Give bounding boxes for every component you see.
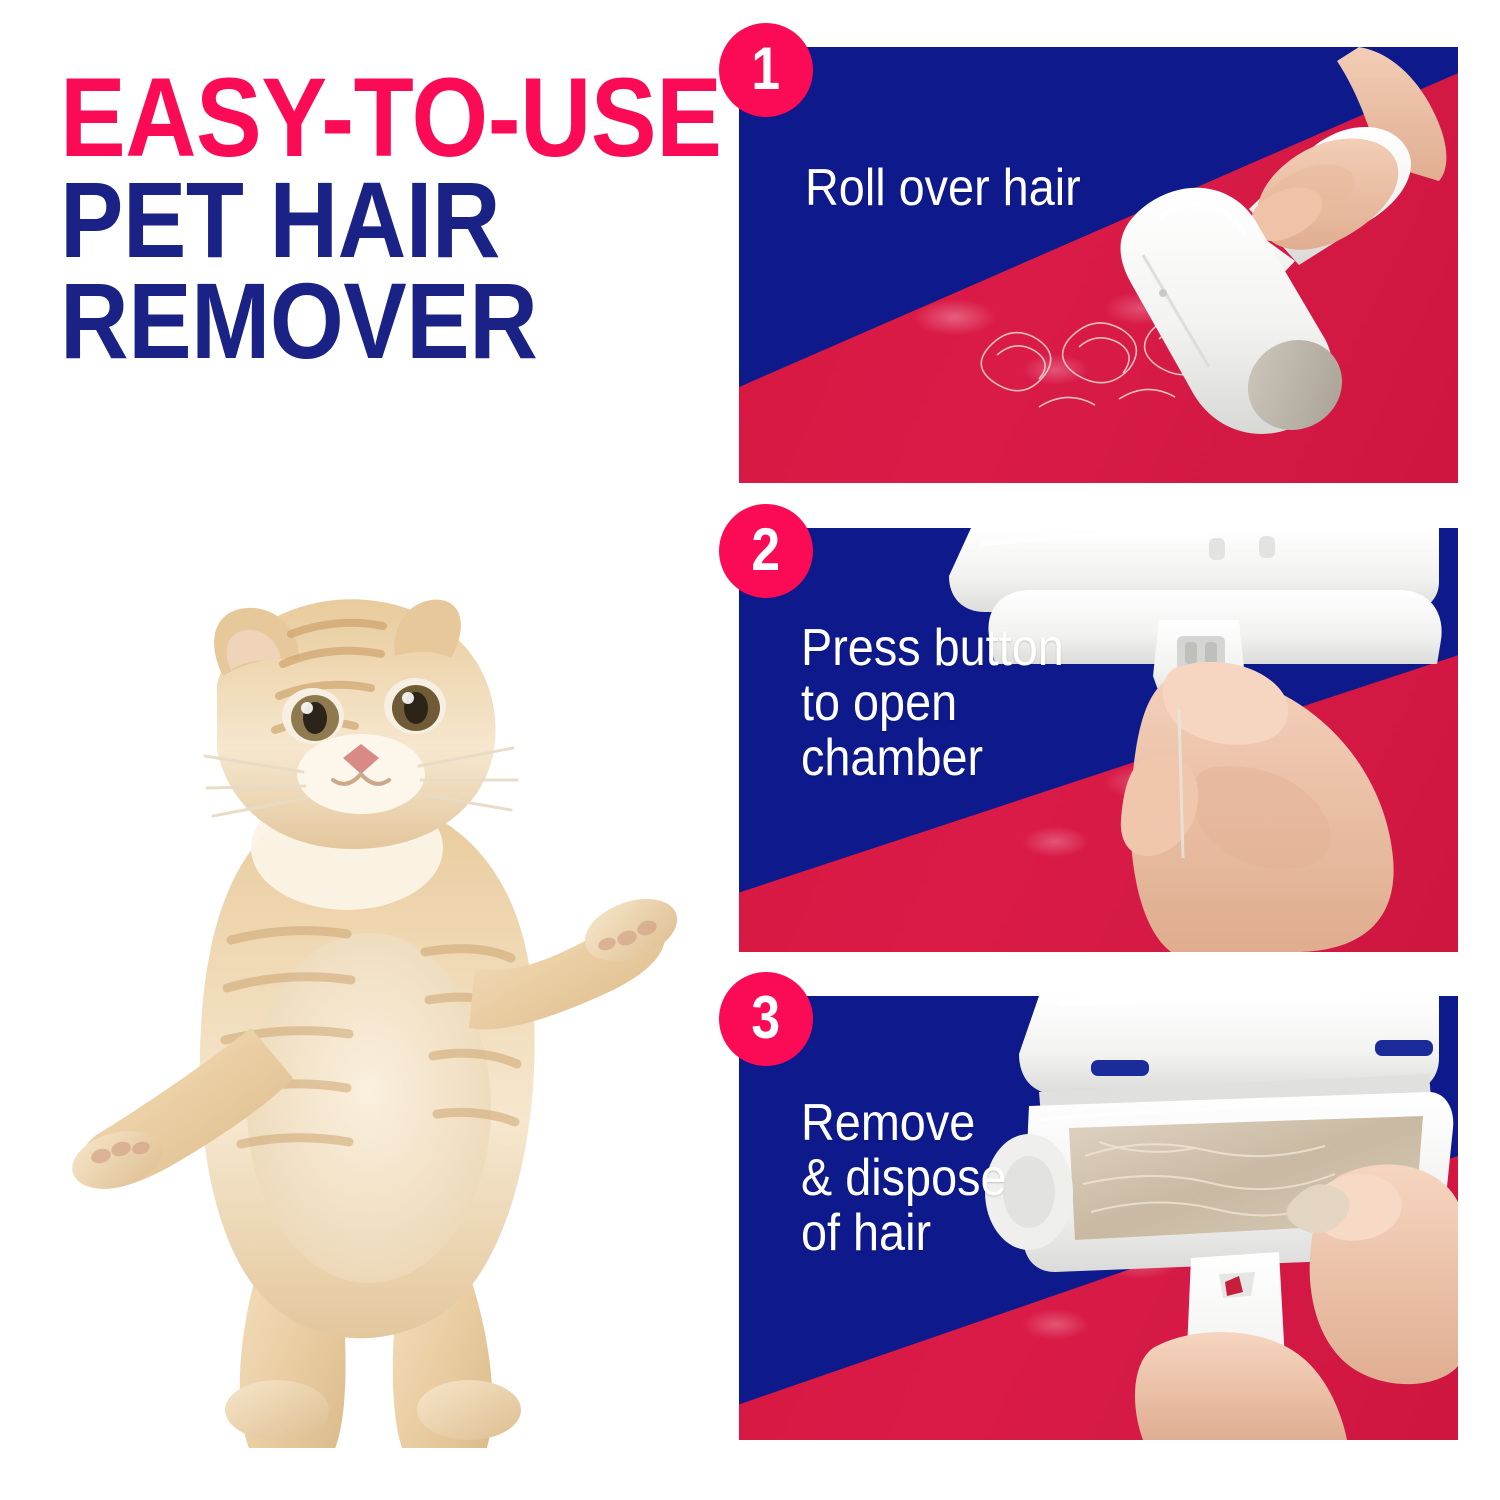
step-number-badge-3: 3 <box>719 972 813 1066</box>
step-number-1: 1 <box>752 39 781 99</box>
step-panel-2: 2 Press button to open chamber <box>739 528 1458 952</box>
step-number-badge-2: 2 <box>719 504 813 598</box>
step-number-3: 3 <box>752 988 781 1048</box>
step-caption-2: Press button to open chamber <box>801 621 1064 786</box>
step-number-badge-1: 1 <box>719 23 813 117</box>
headline-line-3: REMOVER <box>60 271 641 371</box>
headline-line-2: PET HAIR <box>60 170 641 270</box>
cat-illustration <box>55 548 695 1448</box>
step-caption-1: Roll over hair <box>805 161 1081 216</box>
step-1-image <box>739 47 1458 483</box>
infographic-page: EASY-TO-USE PET HAIR REMOVER <box>0 0 1500 1500</box>
page-title: EASY-TO-USE PET HAIR REMOVER <box>60 66 720 371</box>
step-number-2: 2 <box>752 520 781 580</box>
step-caption-3: Remove & dispose of hair <box>801 1096 1007 1261</box>
step-panel-1: 1 Roll over hair <box>739 47 1458 483</box>
cat-photo <box>55 548 695 1448</box>
fabric-background-1 <box>739 47 1458 483</box>
headline-line-1: EASY-TO-USE <box>60 66 641 170</box>
step-panel-3: 3 Remove & dispose of hair <box>739 996 1458 1440</box>
